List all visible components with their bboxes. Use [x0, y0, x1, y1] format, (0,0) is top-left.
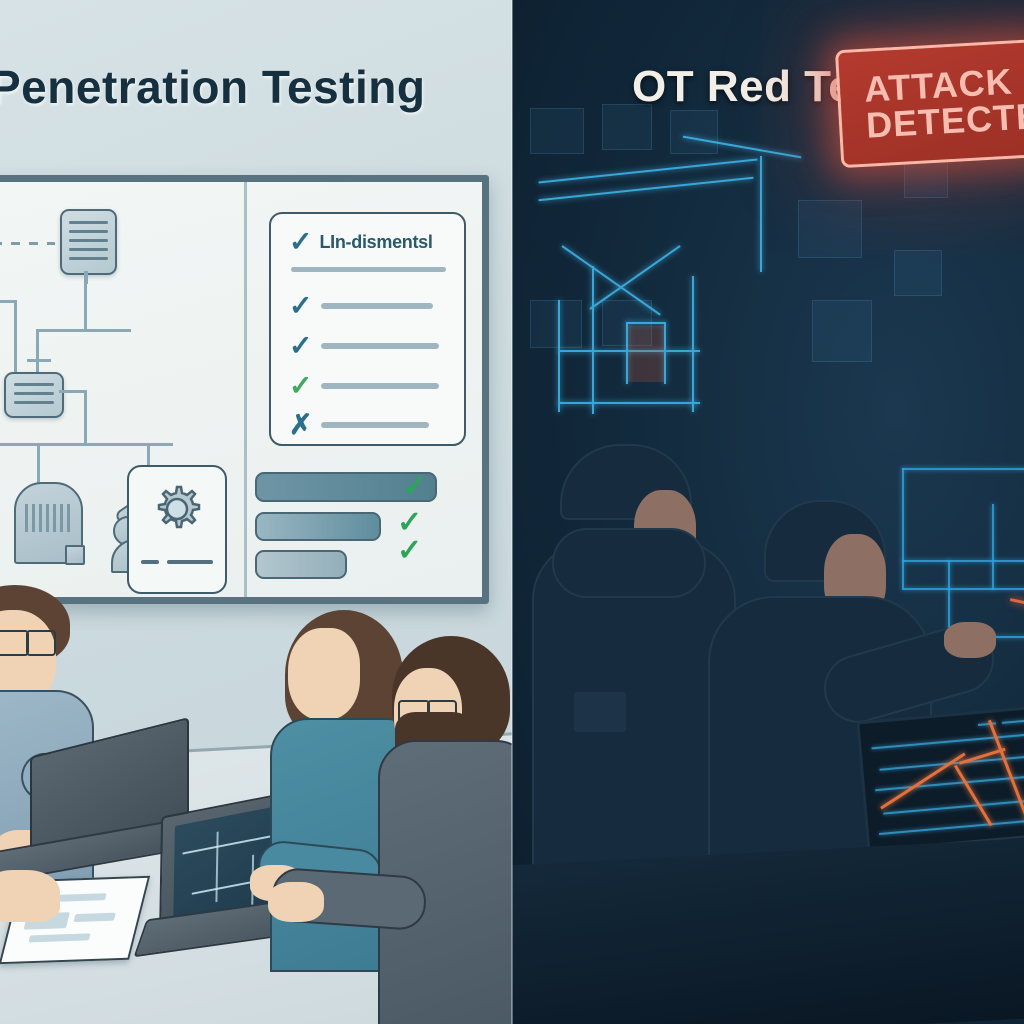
- device-node-middle: [4, 372, 64, 418]
- hand: [0, 870, 60, 922]
- checklist-card: ✓ LIn-dismentsl ✓ ✓ ✓ ✗: [269, 212, 466, 446]
- checklist-row: ✗: [289, 411, 429, 439]
- gear-card-line-1: [141, 560, 159, 564]
- cross-icon: ✗: [289, 411, 312, 439]
- bg-panel: [530, 108, 584, 154]
- check-icon: ✓: [289, 292, 312, 320]
- edge-vertical-3: [14, 300, 17, 372]
- gear-info-card: [127, 465, 227, 594]
- panel-split-divider: [511, 0, 513, 1024]
- check-icon: ✓: [402, 472, 427, 502]
- attack-detected-sign: ATTACK DETECTED: [835, 36, 1024, 168]
- pointing-hand: [944, 622, 996, 658]
- dashed-link: [0, 242, 55, 245]
- bg-panel: [670, 110, 718, 154]
- progress-bar: [255, 512, 381, 541]
- checklist-header: ✓ LIn-dismentsl: [289, 228, 433, 256]
- left-panel-title: Penetration Testing: [0, 60, 425, 114]
- check-icon: ✓: [289, 332, 312, 360]
- hood-collar: [552, 528, 706, 598]
- checklist-row: ✓: [289, 332, 439, 360]
- holo-door-glow: [628, 326, 664, 382]
- gear-card-line-2: [167, 560, 213, 564]
- checklist-row-line: [321, 383, 439, 389]
- progress-bar: [255, 550, 347, 579]
- checklist-row-line: [321, 422, 429, 428]
- edge-tick: [27, 359, 51, 362]
- hologram-building: [532, 150, 852, 470]
- checklist-row: ✓: [289, 372, 439, 400]
- gear-icon: [149, 481, 205, 537]
- glasses: [0, 630, 29, 656]
- split-illustration: Penetration Testing: [0, 0, 1024, 1024]
- checklist-row-line: [321, 303, 433, 309]
- console-desk: [512, 839, 1024, 1024]
- check-icon: ✓: [397, 536, 422, 566]
- edge-mid-right: [59, 390, 87, 393]
- edge-vertical-2: [36, 329, 39, 377]
- checklist-header-label: LIn-dismentsl: [319, 232, 432, 253]
- check-icon: ✓: [289, 372, 312, 400]
- edge-horizontal-1: [36, 329, 131, 332]
- edge-vertical-4: [84, 390, 87, 445]
- checklist-header-underline: [291, 267, 446, 272]
- network-diagram: [0, 182, 244, 583]
- edge-vertical-1: [84, 281, 87, 331]
- hand: [268, 882, 324, 922]
- face: [288, 628, 360, 720]
- right-panel-ot-red-teaming: OT Red Teaming ATTACK DETECTED: [512, 0, 1024, 1024]
- edge-drop-1: [37, 443, 40, 485]
- glasses: [26, 630, 56, 656]
- checklist-row: ✓: [289, 292, 433, 320]
- shoulder-patch: [574, 692, 626, 732]
- bg-panel: [894, 250, 942, 296]
- left-panel-penetration-testing: Penetration Testing: [0, 0, 512, 1024]
- check-icon: ✓: [289, 228, 312, 256]
- checklist-row-line: [321, 343, 439, 349]
- whiteboard-divider: [244, 182, 247, 597]
- device-node-top: [60, 209, 117, 275]
- whiteboard: ✓ LIn-dismentsl ✓ ✓ ✓ ✗: [0, 175, 489, 604]
- server-foot: [65, 545, 85, 565]
